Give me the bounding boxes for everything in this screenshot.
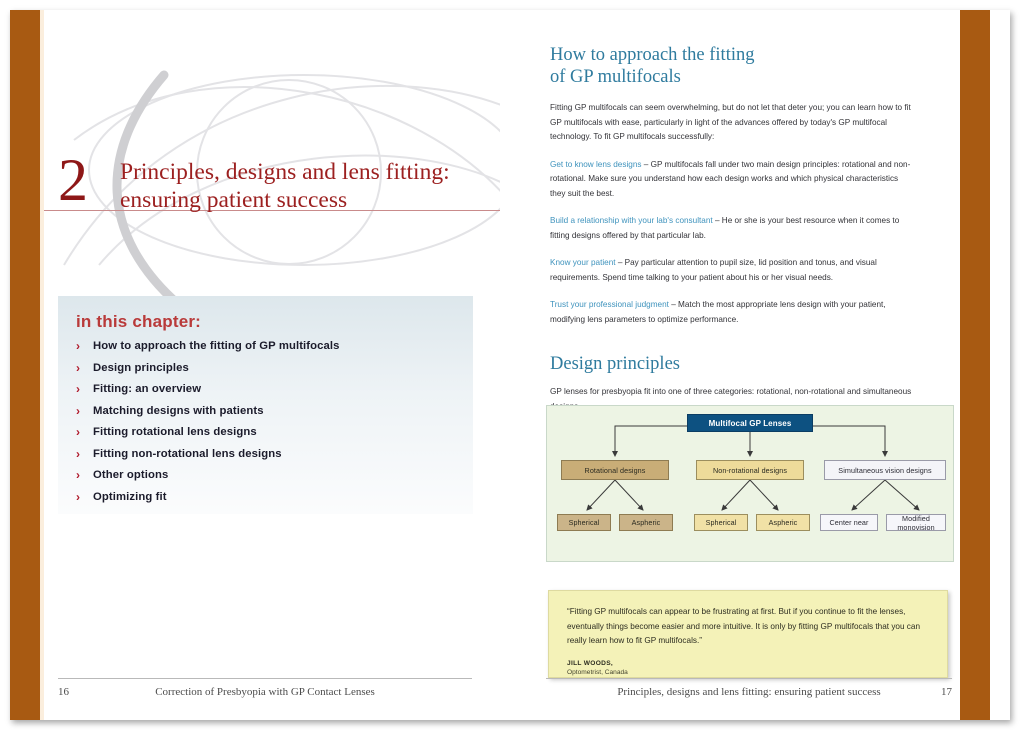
list-item[interactable]: ›Optimizing fit (76, 491, 473, 503)
bullet-paragraph-lab-consultant: Build a relationship with your lab's con… (550, 214, 912, 243)
bullet-paragraph-lens-designs: Get to know lens designs – GP multifocal… (550, 158, 912, 202)
page-number: 16 (58, 686, 92, 698)
list-item-label: Optimizing fit (93, 491, 167, 503)
intro-paragraph: Fitting GP multifocals can seem overwhel… (550, 101, 912, 145)
diagram-node-non-rotational-designs: Non-rotational designs (696, 460, 804, 480)
list-item[interactable]: ›Matching designs with patients (76, 405, 473, 417)
chapter-title-line-2: ensuring patient success (120, 186, 500, 214)
spine-band-right (960, 10, 990, 720)
chevron-right-icon: › (76, 339, 80, 353)
right-page: How to approach the fitting of GP multif… (500, 10, 960, 720)
bullet-lead-label: Know your patient (550, 258, 616, 267)
section-heading-line-1: How to approach the fitting (550, 45, 754, 65)
bullet-lead-label: Get to know lens designs (550, 160, 641, 169)
diagram-node-root: Multifocal GP Lenses (687, 414, 813, 432)
diagram-leaf-rotational-aspheric: Aspheric (619, 514, 673, 531)
page-number: 17 (918, 686, 952, 698)
footer-rule (58, 678, 472, 679)
section-heading-line-2: of GP multifocals (550, 67, 681, 87)
right-page-text-column: How to approach the fitting of GP multif… (550, 44, 912, 427)
chevron-right-icon: › (76, 447, 80, 461)
bullet-paragraph-professional-judgment: Trust your professional judgment – Match… (550, 298, 912, 327)
multifocal-lens-taxonomy-diagram: Multifocal GP Lenses Rotational designs … (546, 405, 954, 562)
in-this-chapter-box: in this chapter: ›How to approach the fi… (58, 296, 473, 514)
list-item[interactable]: ›Other options (76, 469, 473, 481)
bullet-lead-label: Trust your professional judgment (550, 300, 669, 309)
list-item-label: Design principles (93, 362, 189, 374)
quote-author-role: Optometrist, Canada (567, 668, 929, 677)
book-spread: 2 Principles, designs and lens fitting: … (0, 0, 1023, 730)
footer-title: Principles, designs and lens fitting: en… (580, 686, 918, 698)
chapter-title-line-1: Principles, designs and lens fitting: (120, 158, 500, 186)
list-item[interactable]: ›Fitting non-rotational lens designs (76, 448, 473, 460)
bullet-paragraph-know-patient: Know your patient – Pay particular atten… (550, 256, 912, 285)
chevron-right-icon: › (76, 425, 80, 439)
footer-rule (546, 678, 952, 679)
diagram-leaf-center-near: Center near (820, 514, 878, 531)
page-title: Principles, designs and lens fitting: en… (120, 158, 500, 214)
chapter-number: 2 (58, 150, 88, 210)
pull-quote-box: “Fitting GP multifocals can appear to be… (548, 590, 948, 678)
list-item-label: How to approach the fitting of GP multif… (93, 340, 340, 352)
list-item-label: Other options (93, 469, 168, 481)
quote-text: “Fitting GP multifocals can appear to be… (567, 605, 929, 649)
diagram-leaf-modified-monovision: Modified monovision (886, 514, 946, 531)
footer-title: Correction of Presbyopia with GP Contact… (92, 686, 438, 698)
diagram-leaf-non-rotational-spherical: Spherical (694, 514, 748, 531)
diagram-node-simultaneous-vision-designs: Simultaneous vision designs (824, 460, 946, 480)
list-item[interactable]: ›How to approach the fitting of GP multi… (76, 340, 473, 352)
section-heading-how-to-approach: How to approach the fitting of GP multif… (550, 44, 912, 88)
left-page: 2 Principles, designs and lens fitting: … (44, 10, 500, 720)
chevron-right-icon: › (76, 468, 80, 482)
diagram-node-rotational-designs: Rotational designs (561, 460, 669, 480)
list-item-label: Matching designs with patients (93, 405, 264, 417)
chevron-right-icon: › (76, 490, 80, 504)
list-item[interactable]: ›Fitting rotational lens designs (76, 426, 473, 438)
diagram-leaf-non-rotational-aspheric: Aspheric (756, 514, 810, 531)
list-item-label: Fitting: an overview (93, 383, 201, 395)
chevron-right-icon: › (76, 361, 80, 375)
in-this-chapter-heading: in this chapter: (58, 296, 473, 340)
quote-author: JILL WOODS, (567, 659, 929, 668)
list-item-label: Fitting rotational lens designs (93, 426, 257, 438)
chapter-contents-list: ›How to approach the fitting of GP multi… (58, 340, 473, 503)
chevron-right-icon: › (76, 382, 80, 396)
spine-band-left (10, 10, 40, 720)
footer-right: Principles, designs and lens fitting: en… (546, 678, 952, 698)
bullet-lead-label: Build a relationship with your lab's con… (550, 216, 713, 225)
list-item[interactable]: ›Design principles (76, 362, 473, 374)
list-item-label: Fitting non-rotational lens designs (93, 448, 282, 460)
section-heading-design-principles: Design principles (550, 353, 912, 375)
footer-left: 16 Correction of Presbyopia with GP Cont… (58, 678, 472, 698)
chevron-right-icon: › (76, 404, 80, 418)
list-item[interactable]: ›Fitting: an overview (76, 383, 473, 395)
diagram-leaf-rotational-spherical: Spherical (557, 514, 611, 531)
